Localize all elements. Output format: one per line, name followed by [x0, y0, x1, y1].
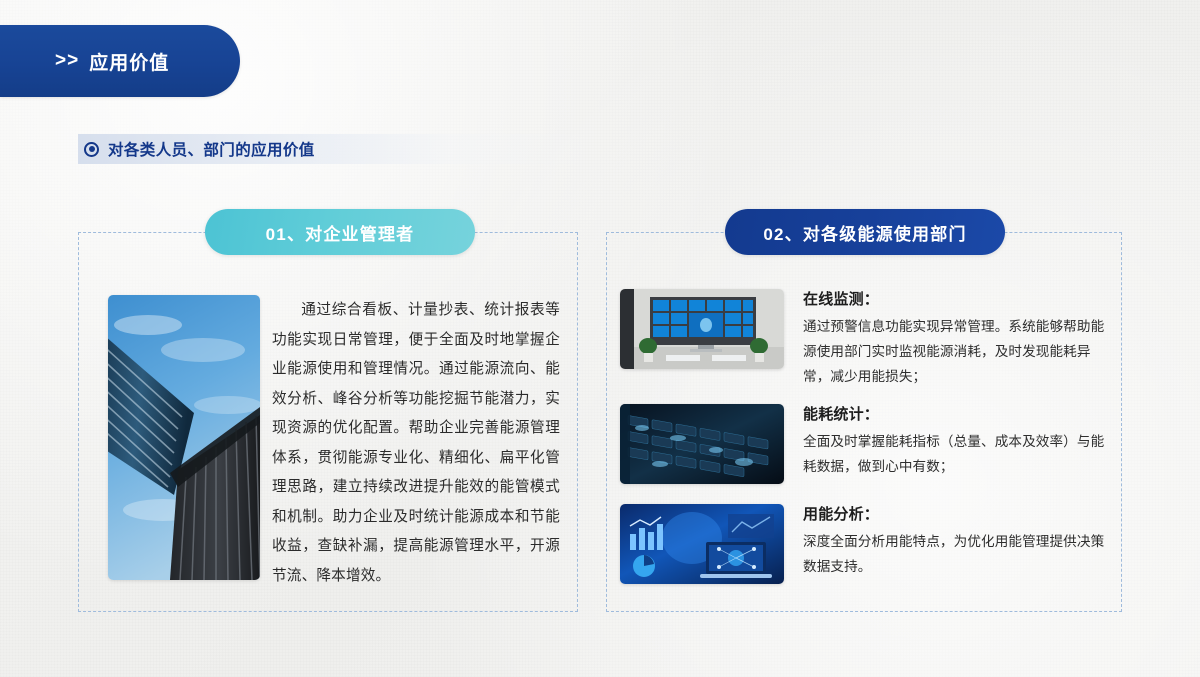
item-text-block: 在线监测： 通过预警信息功能实现异常管理。系统能够帮助能源使用部门实时监视能源消… [803, 289, 1105, 389]
header-chevron-icon: >> [55, 50, 79, 72]
image-keyboard [620, 404, 784, 484]
page-header-banner: >> 应用价值 [0, 25, 240, 97]
pill-label-01: 01、对企业管理者 [205, 209, 475, 255]
item-heading: 在线监测： [803, 289, 1105, 311]
item-body: 深度全面分析用能特点，为优化用能管理提供决策数据支持。 [803, 529, 1105, 579]
item-heading: 能耗统计： [803, 404, 1105, 426]
skyscraper-artwork [108, 295, 260, 580]
item-body: 通过预警信息功能实现异常管理。系统能够帮助能源使用部门实时监视能源消耗，及时发现… [803, 314, 1105, 389]
keyboard-artwork [620, 404, 784, 484]
item-body: 全面及时掌握能耗指标（总量、成本及效率）与能耗数据，做到心中有数； [803, 429, 1105, 479]
pill-label-02: 02、对各级能源使用部门 [725, 209, 1005, 255]
item-text-block: 用能分析： 深度全面分析用能特点，为优化用能管理提供决策数据支持。 [803, 504, 1105, 579]
section-subtitle-label: 对各类人员、部门的应用价值 [108, 138, 315, 160]
image-control-room [620, 289, 784, 369]
left-card-paragraph: 通过综合看板、计量抄表、统计报表等功能实现日常管理，便于全面及时地掌握企业能源使… [272, 296, 560, 591]
page-title: 应用价值 [89, 48, 169, 75]
image-skyscrapers [108, 295, 260, 580]
item-text-block: 能耗统计： 全面及时掌握能耗指标（总量、成本及效率）与能耗数据，做到心中有数； [803, 404, 1105, 479]
item-heading: 用能分析： [803, 504, 1105, 526]
data-analytics-artwork [620, 504, 784, 584]
list-item: 用能分析： 深度全面分析用能特点，为优化用能管理提供决策数据支持。 [620, 504, 1105, 584]
list-item: 能耗统计： 全面及时掌握能耗指标（总量、成本及效率）与能耗数据，做到心中有数； [620, 404, 1105, 484]
bullseye-icon [84, 142, 99, 157]
control-room-artwork [620, 289, 784, 369]
image-data-analytics [620, 504, 784, 584]
list-item: 在线监测： 通过预警信息功能实现异常管理。系统能够帮助能源使用部门实时监视能源消… [620, 289, 1105, 389]
section-subtitle-bar: 对各类人员、部门的应用价值 [78, 134, 678, 164]
